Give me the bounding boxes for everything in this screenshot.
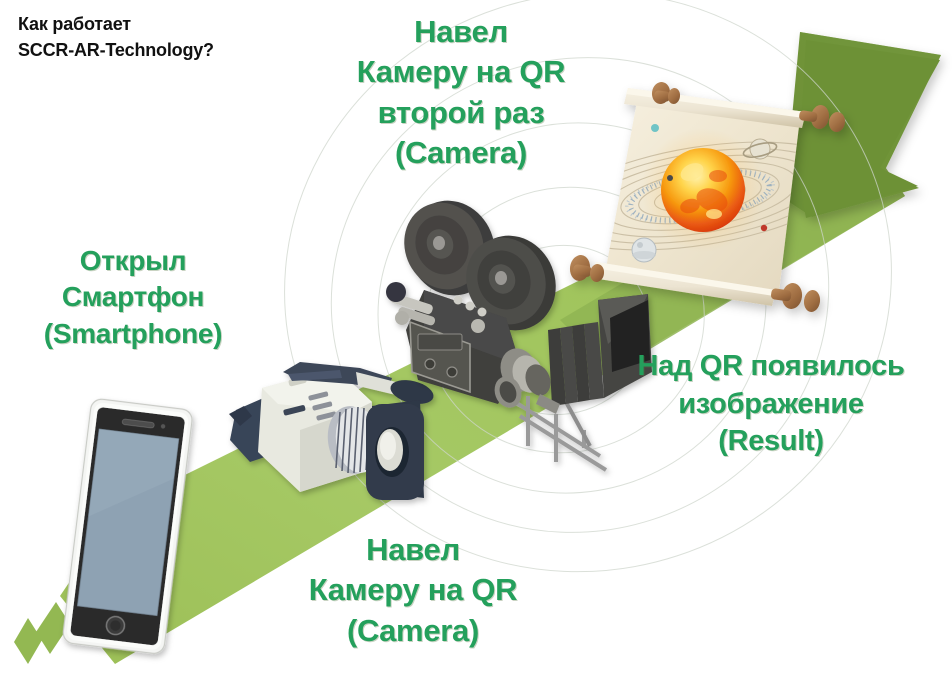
camcorder-viewfinder — [230, 396, 292, 462]
phone-home-button — [105, 616, 125, 636]
scroll-finial-top-left — [651, 81, 681, 105]
scroll-finial-bottom-right — [770, 282, 821, 313]
arrow-body — [798, 40, 940, 218]
phone-front-camera — [161, 424, 166, 429]
band-tail-stripes — [14, 602, 70, 664]
camcorder-mic — [356, 372, 400, 396]
phone-earpiece — [122, 419, 154, 428]
scroll-rod-top — [624, 88, 806, 128]
film-camera-body — [406, 290, 520, 404]
film-camera-side-plate — [410, 322, 470, 392]
planet-saturn — [742, 139, 778, 160]
planet-small-cyan — [651, 124, 659, 132]
phone-screen — [78, 429, 179, 615]
caption-smartphone: Открыл Смартфон (Smartphone) — [8, 243, 258, 352]
page-title: Как работает SCCR-AR-Technology? — [18, 12, 338, 63]
infographic-canvas: Как работает SCCR-AR-Technology? Открыл … — [0, 0, 952, 695]
phone-bezel — [70, 407, 185, 646]
planet-small-red — [761, 225, 767, 231]
caption-result: Над QR появилось изображение (Result) — [618, 348, 924, 461]
film-camera-lens — [490, 343, 554, 411]
caption-camera-second: Навел Камеру на QR второй раз (Camera) — [330, 12, 592, 173]
camcorder-body — [258, 368, 372, 492]
scroll-sheet — [606, 96, 800, 300]
scroll-rod-bottom — [592, 262, 776, 306]
band-upper-run — [560, 139, 905, 372]
camcorder-lens-barrel — [324, 403, 385, 477]
planet-small-dark — [667, 175, 673, 181]
film-camera-crank — [386, 282, 436, 326]
scroll-finial-top-right — [799, 104, 847, 133]
film-camera-rails — [512, 396, 606, 470]
sun — [661, 148, 745, 232]
camcorder-handle — [283, 362, 392, 390]
camcorder-front-glass — [375, 427, 409, 477]
asteroid-belt — [623, 161, 777, 232]
camcorder-mic-tip — [388, 376, 436, 408]
scroll-finial-bottom-left — [568, 254, 605, 283]
caption-camera-first: Навел Камеру на QR (Camera) — [268, 530, 558, 651]
film-reel-right — [453, 222, 569, 343]
green-arrow — [780, 32, 941, 217]
phone-body — [62, 398, 193, 655]
film-reel-left — [391, 187, 508, 308]
planet-moon — [632, 238, 656, 262]
camcorder-lens-hood — [372, 400, 424, 498]
